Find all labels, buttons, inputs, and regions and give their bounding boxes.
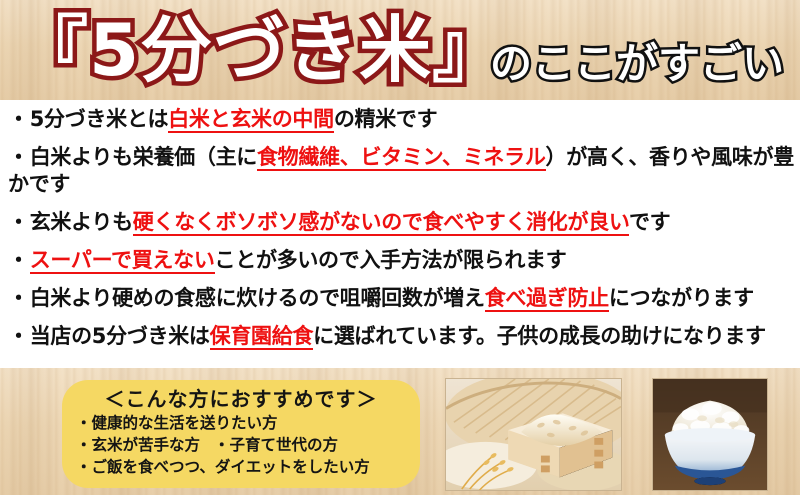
benefit-text: 白米より硬めの食感に炊けるので咀嚼回数が増え — [30, 286, 485, 310]
rice-bowl-photo — [652, 378, 768, 491]
recommend-item-text: ・ご飯を食べつつ、ダイエットをしたい方 — [76, 458, 370, 476]
benefit-text: に選ばれています。子供の成長の助けになります — [313, 324, 766, 348]
recommend-box: ＜こんな方におすすめです＞ ・健康的な生活を送りたい方・玄米が苦手な方・子育て世… — [62, 380, 420, 488]
recommend-item: ・玄米が苦手な方・子育て世代の方 — [62, 434, 420, 456]
benefit-list: ・5分づき米とは白米と玄米の中間の精米です・白米よりも栄養価（主に食物繊維、ビタ… — [0, 100, 800, 368]
bottom-strip: ＜こんな方におすすめです＞ ・健康的な生活を送りたい方・玄米が苦手な方・子育て世… — [0, 368, 800, 495]
benefit-text: の精米です — [334, 107, 438, 131]
benefit-item: ・5分づき米とは白米と玄米の中間の精米です — [8, 106, 794, 133]
highlighted-phrase: 白米と玄米の中間 — [168, 107, 334, 133]
recommend-lines: ・健康的な生活を送りたい方・玄米が苦手な方・子育て世代の方・ご飯を食べつつ、ダイ… — [62, 412, 420, 478]
recommend-item-text: ・健康的な生活を送りたい方 — [76, 414, 278, 432]
benefit-item: ・白米よりも栄養価（主に食物繊維、ビタミン、ミネラル）が高く、香りや風味が豊かで… — [8, 144, 794, 198]
benefit-text: 白米よりも栄養価（主に — [30, 145, 257, 169]
highlighted-phrase: 硬くなくボソボソ感がないので食べやすく消化が良い — [133, 210, 629, 236]
benefit-text: です — [629, 210, 670, 234]
benefit-item: ・玄米よりも硬くなくボソボソ感がないので食べやすく消化が良いです — [8, 209, 794, 236]
highlighted-phrase: 保育園給食 — [210, 324, 314, 350]
header-inner: 『5分づき米』 のここがすごい — [0, 0, 800, 100]
header-banner: 『5分づき米』 のここがすごい — [0, 0, 800, 100]
benefit-text: 当店の5分づき米は — [30, 324, 210, 348]
highlighted-phrase: 食物繊維、ビタミン、ミネラル — [257, 145, 546, 171]
recommend-item-text-secondary: ・子育て世代の方 — [214, 436, 338, 454]
masu-box-rice-photo — [445, 378, 622, 491]
bullet-marker: ・ — [8, 248, 29, 272]
recommend-item-text: ・玄米が苦手な方 — [76, 436, 200, 454]
benefit-text: につながります — [609, 286, 754, 310]
benefit-text: ことが多いので入手方法が限られます — [215, 248, 567, 272]
benefit-text: 玄米よりも — [30, 210, 133, 234]
bullet-marker: ・ — [8, 210, 29, 234]
bullet-marker: ・ — [8, 145, 29, 169]
benefit-item: ・白米より硬めの食感に炊けるので咀嚼回数が増え食べ過ぎ防止につながります — [8, 285, 794, 312]
benefit-text: 5分づき米とは — [30, 107, 169, 131]
page-title: 『5分づき米』 — [16, 4, 505, 96]
bullet-marker: ・ — [8, 286, 29, 310]
bullet-marker: ・ — [8, 107, 29, 131]
recommend-title: ＜こんな方におすすめです＞ — [62, 387, 420, 412]
page-subtitle: のここがすごい — [490, 38, 784, 90]
benefit-item: ・スーパーで買えないことが多いので入手方法が限られます — [8, 247, 794, 274]
bullet-marker: ・ — [8, 324, 29, 348]
highlighted-phrase: スーパーで買えない — [30, 248, 215, 274]
benefit-item: ・当店の5分づき米は保育園給食に選ばれています。子供の成長の助けになります — [8, 323, 794, 350]
recommend-item: ・ご飯を食べつつ、ダイエットをしたい方 — [62, 456, 420, 478]
recommend-item: ・健康的な生活を送りたい方 — [62, 412, 420, 434]
highlighted-phrase: 食べ過ぎ防止 — [485, 286, 609, 312]
